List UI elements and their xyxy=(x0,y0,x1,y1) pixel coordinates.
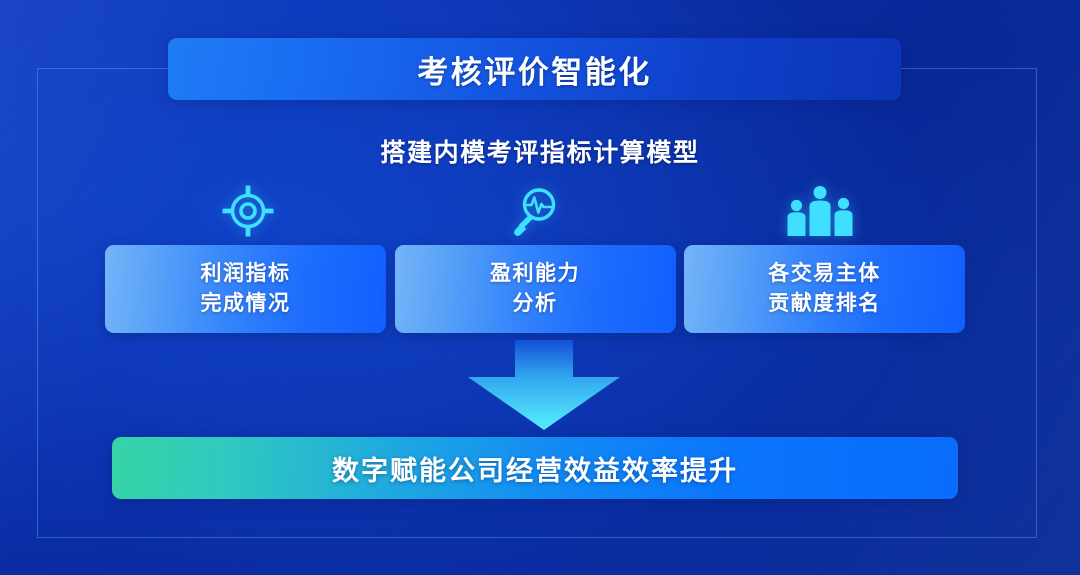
metric-card-profit[interactable]: 利润指标 完成情况 xyxy=(105,245,386,333)
outcome-text: 数字赋能公司经营效益效率提升 xyxy=(332,449,738,488)
icon-row xyxy=(105,182,965,240)
card-line-1: 盈利能力 xyxy=(490,259,580,289)
card-line-2: 完成情况 xyxy=(201,289,291,319)
magnifier-pulse-icon xyxy=(506,183,562,239)
title-banner: 考核评价智能化 xyxy=(168,38,901,100)
icon-cell-3 xyxy=(677,182,963,240)
metric-card-profitability[interactable]: 盈利能力 分析 xyxy=(395,245,676,333)
slide-canvas: 考核评价智能化 搭建内模考评指标计算模型 xyxy=(0,0,1080,575)
target-icon xyxy=(220,183,276,239)
card-line-1: 各交易主体 xyxy=(768,259,881,289)
icon-cell-2 xyxy=(391,182,677,240)
card-line-1: 利润指标 xyxy=(201,259,291,289)
podium-ranking-icon xyxy=(785,184,855,238)
card-line-2: 分析 xyxy=(513,289,558,319)
cards-row: 利润指标 完成情况 盈利能力 分析 各交易主体 贡献度排名 xyxy=(105,245,965,333)
subtitle: 搭建内模考评指标计算模型 xyxy=(0,133,1080,169)
icon-cell-1 xyxy=(105,182,391,240)
page-title: 考核评价智能化 xyxy=(417,47,652,92)
metric-card-contribution-ranking[interactable]: 各交易主体 贡献度排名 xyxy=(684,245,965,333)
down-arrow-icon xyxy=(468,340,620,430)
outcome-banner: 数字赋能公司经营效益效率提升 xyxy=(112,437,958,499)
card-line-2: 贡献度排名 xyxy=(768,289,881,319)
